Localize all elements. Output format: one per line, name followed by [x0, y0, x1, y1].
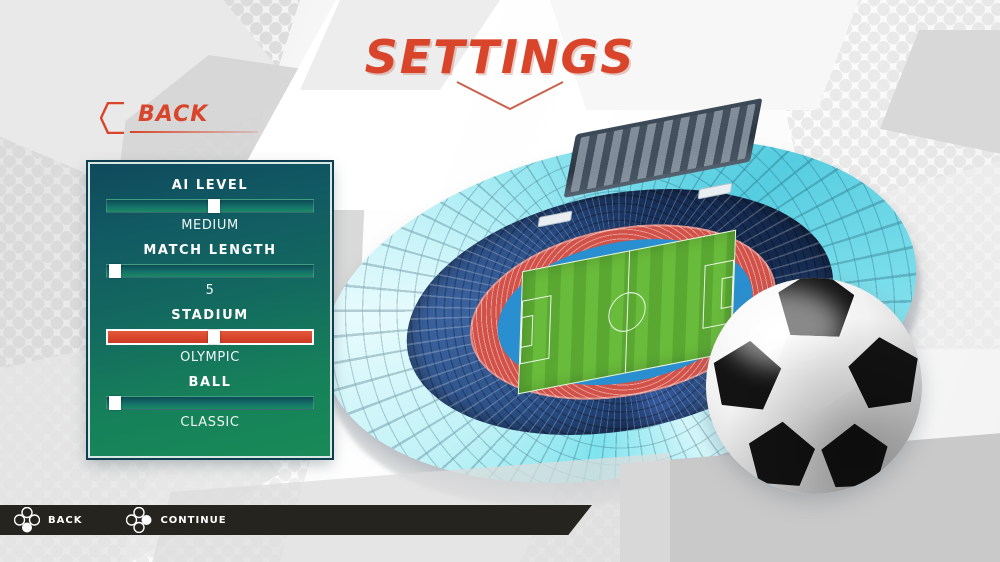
slider-knob[interactable] [109, 396, 121, 410]
back-button-underline [130, 131, 258, 133]
settings-screen: SETTINGS BACK AI LEVEL MEDIUM MATCH LENG… [0, 0, 1000, 562]
setting-value: OLYMPIC [106, 350, 314, 365]
setting-label: MATCH LENGTH [106, 243, 314, 258]
soccer-ball-illustration [706, 278, 922, 494]
bottom-hint-bar: BACK CONTINUE [0, 505, 592, 535]
slider-knob[interactable] [208, 330, 220, 344]
pitch-goal-box-right [721, 276, 734, 310]
setting-match-length[interactable]: MATCH LENGTH 5 [106, 243, 314, 298]
hint-label: CONTINUE [160, 515, 226, 526]
dpad-right-icon [126, 507, 152, 533]
page-title: SETTINGS [0, 30, 1000, 84]
setting-stadium[interactable]: STADIUM OLYMPIC [106, 308, 314, 365]
setting-label: AI LEVEL [106, 178, 314, 193]
setting-label: STADIUM [106, 308, 314, 323]
match-length-slider[interactable] [106, 264, 314, 278]
title-pentagon-decoration [455, 80, 565, 112]
slider-knob[interactable] [208, 199, 220, 213]
setting-value: 5 [106, 283, 314, 298]
settings-panel: AI LEVEL MEDIUM MATCH LENGTH 5 STADIUM O… [88, 162, 332, 458]
slider-knob[interactable] [109, 264, 121, 278]
pitch-center-circle [608, 289, 647, 335]
stadium-slider[interactable] [106, 329, 314, 345]
back-button[interactable]: BACK [100, 100, 260, 136]
hint-back[interactable]: BACK [14, 507, 82, 533]
setting-ai-level[interactable]: AI LEVEL MEDIUM [106, 178, 314, 233]
setting-value: MEDIUM [106, 218, 314, 233]
ball-slider[interactable] [106, 396, 314, 410]
ball-shading [706, 278, 922, 494]
dpad-down-icon [14, 507, 40, 533]
setting-value: CLASSIC [106, 415, 314, 430]
setting-ball[interactable]: BALL CLASSIC [106, 375, 314, 430]
pitch-goal-box-left [520, 315, 533, 349]
setting-label: BALL [106, 375, 314, 390]
ai-level-slider[interactable] [106, 199, 314, 213]
back-button-label: BACK [138, 102, 208, 127]
chevron-left-icon [100, 102, 126, 134]
hint-continue[interactable]: CONTINUE [126, 507, 226, 533]
hint-label: BACK [48, 515, 82, 526]
